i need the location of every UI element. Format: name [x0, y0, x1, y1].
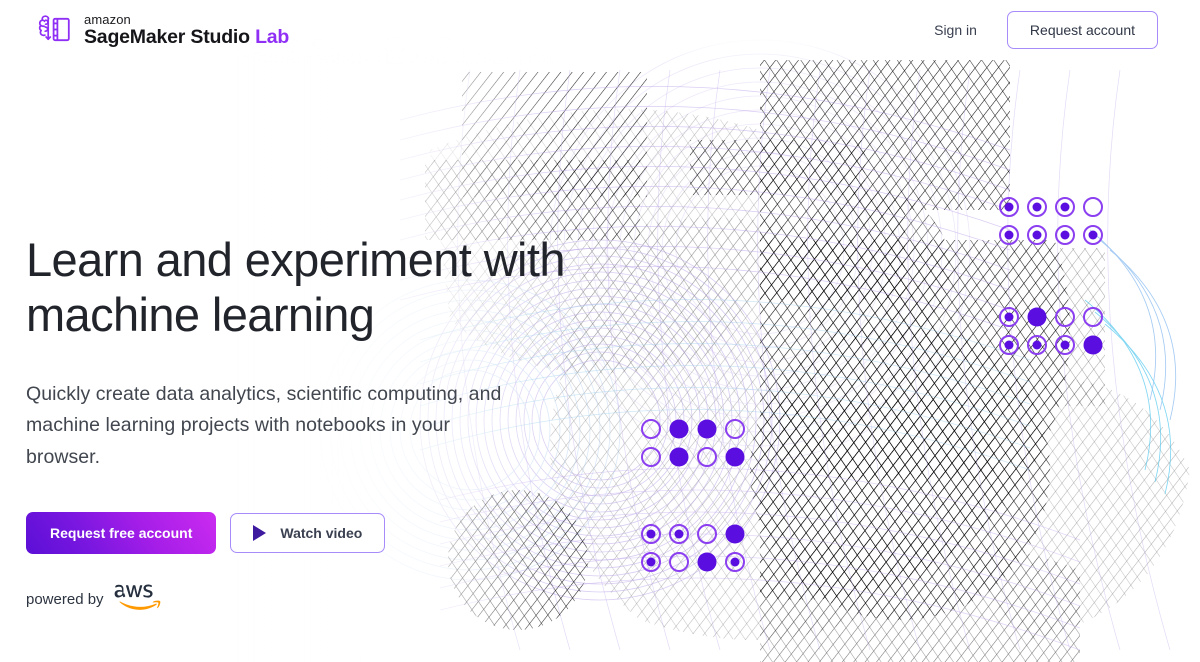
dot-solid: [1082, 334, 1104, 356]
dot-solid: [668, 446, 690, 468]
dot-solid: [696, 418, 718, 440]
dot-ring: [696, 523, 718, 545]
request-free-account-button[interactable]: Request free account: [26, 512, 216, 554]
page-title: Learn and experiment with machine learni…: [26, 232, 626, 343]
header-actions: Sign in Request account: [932, 11, 1200, 49]
dot-cluster-center: [640, 418, 746, 468]
dot-ring-core: [668, 523, 690, 545]
hero-subtitle: Quickly create data analytics, scientifi…: [26, 379, 626, 474]
dot-solid: [696, 551, 718, 573]
dot-solid: [724, 523, 746, 545]
dot-solid: [1026, 306, 1048, 328]
dot-cluster-mid-right: [998, 306, 1104, 356]
play-triangle-icon: [253, 525, 266, 541]
dot-ring: [640, 446, 662, 468]
dot-ring-core: [1082, 224, 1104, 246]
dot-ring-core: [998, 334, 1020, 356]
sign-in-button[interactable]: Sign in: [932, 16, 979, 44]
powered-by-aws: powered by: [26, 582, 626, 612]
dot-ring-core: [998, 306, 1020, 328]
dot-cluster-bottom: [640, 523, 746, 573]
brand-wordmark: amazon SageMaker Studio Lab: [84, 13, 289, 48]
dot-ring-core: [1054, 334, 1076, 356]
dot-ring-core: [998, 196, 1020, 218]
brain-notebook-icon: [34, 12, 74, 48]
dot-ring: [1054, 306, 1076, 328]
dot-ring-core: [640, 551, 662, 573]
dot-ring: [640, 418, 662, 440]
dot-solid: [668, 418, 690, 440]
dot-ring-core: [998, 224, 1020, 246]
dot-ring: [724, 418, 746, 440]
dot-ring: [696, 446, 718, 468]
request-account-button[interactable]: Request account: [1007, 11, 1158, 49]
dot-ring-core: [1054, 196, 1076, 218]
cta-row: Request free account Watch video: [26, 512, 626, 554]
dot-ring-core: [724, 551, 746, 573]
site-header: amazon SageMaker Studio Lab Sign in Requ…: [0, 0, 1200, 60]
dot-ring: [1082, 196, 1104, 218]
dot-ring-core: [1026, 334, 1048, 356]
dot-ring: [1082, 306, 1104, 328]
landing-page: amazon SageMaker Studio Lab Sign in Requ…: [0, 0, 1200, 662]
brand-product-main: SageMaker Studio: [84, 26, 250, 48]
watch-video-button[interactable]: Watch video: [230, 513, 385, 553]
brand-amazon-label: amazon: [84, 13, 289, 26]
brand-product-label: SageMaker Studio Lab: [84, 28, 289, 48]
brand-logo[interactable]: amazon SageMaker Studio Lab: [0, 12, 289, 48]
dot-cluster-top-right: [998, 196, 1104, 246]
dot-solid: [724, 446, 746, 468]
dot-ring: [668, 551, 690, 573]
watch-video-label: Watch video: [280, 525, 362, 541]
dot-ring-core: [1026, 196, 1048, 218]
dot-ring-core: [640, 523, 662, 545]
hero-content: Learn and experiment with machine learni…: [26, 232, 626, 612]
dot-ring-core: [1054, 224, 1076, 246]
powered-by-label: powered by: [26, 592, 104, 612]
aws-logo-icon: [113, 582, 161, 612]
dot-ring-core: [1026, 224, 1048, 246]
brand-lab-label: Lab: [255, 26, 289, 48]
